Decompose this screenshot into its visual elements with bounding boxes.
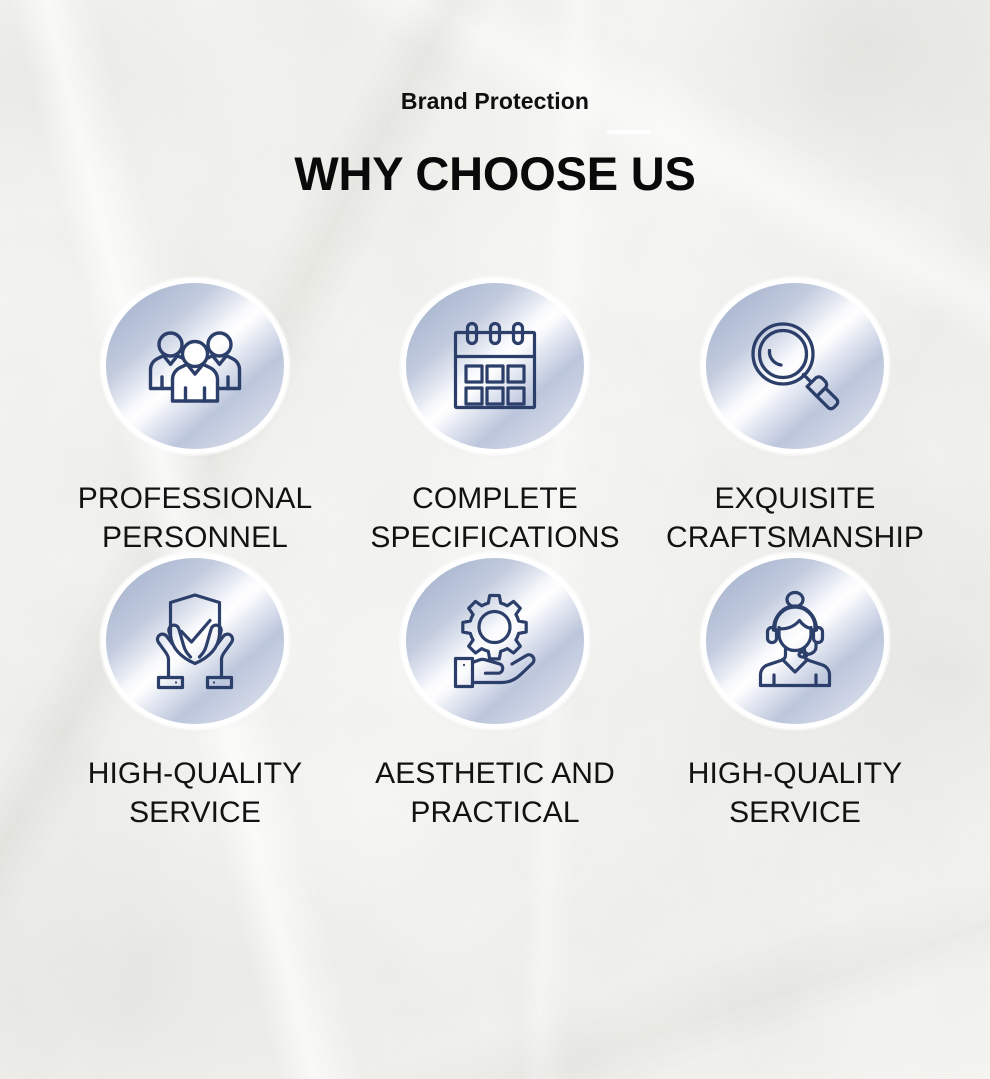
icon-badge bbox=[706, 283, 884, 448]
feature-card-high-quality-service[interactable]: HIGH-QUALITY SERVICE bbox=[45, 558, 345, 833]
calendar-icon bbox=[446, 317, 544, 415]
feature-label: PROFESSIONAL PERSONNEL bbox=[74, 479, 316, 559]
icon-badge bbox=[406, 283, 584, 448]
feature-card-high-quality-service-2[interactable]: HIGH-QUALITY SERVICE bbox=[645, 558, 945, 833]
feature-grid: PROFESSIONAL PERSONNEL bbox=[0, 283, 990, 833]
hands-shield-check-icon bbox=[143, 589, 247, 693]
divider-line bbox=[607, 130, 651, 134]
icon-badge bbox=[106, 283, 284, 448]
feature-label: COMPLETE SPECIFICATIONS bbox=[350, 479, 640, 559]
hand-gear-icon bbox=[443, 589, 547, 693]
page-title: WHY CHOOSE US bbox=[0, 148, 990, 200]
feature-label: HIGH-QUALITY SERVICE bbox=[50, 754, 340, 834]
eyebrow-text: Brand Protection bbox=[0, 88, 990, 116]
feature-label: HIGH-QUALITY SERVICE bbox=[650, 754, 940, 834]
icon-badge bbox=[706, 558, 884, 723]
why-choose-us-page: Brand Protection WHY CHOOSE US bbox=[0, 0, 990, 1079]
feature-card-professional-personnel[interactable]: PROFESSIONAL PERSONNEL bbox=[45, 283, 345, 558]
support-agent-headset-icon bbox=[744, 590, 846, 692]
feature-card-exquisite-craftsmanship[interactable]: EXQUISITE CRAFTSMANSHIP bbox=[645, 283, 945, 558]
divider-row bbox=[0, 116, 990, 150]
people-group-icon bbox=[143, 314, 247, 418]
feature-label: AESTHETIC AND PRACTICAL bbox=[350, 754, 640, 834]
page-header: Brand Protection WHY CHOOSE US bbox=[0, 0, 990, 199]
icon-badge bbox=[406, 558, 584, 723]
feature-card-aesthetic-and-practical[interactable]: AESTHETIC AND PRACTICAL bbox=[345, 558, 645, 833]
icon-badge bbox=[106, 558, 284, 723]
feature-card-complete-specifications[interactable]: COMPLETE SPECIFICATIONS bbox=[345, 283, 645, 558]
magnifier-icon bbox=[745, 316, 845, 416]
feature-label: EXQUISITE CRAFTSMANSHIP bbox=[645, 479, 945, 559]
